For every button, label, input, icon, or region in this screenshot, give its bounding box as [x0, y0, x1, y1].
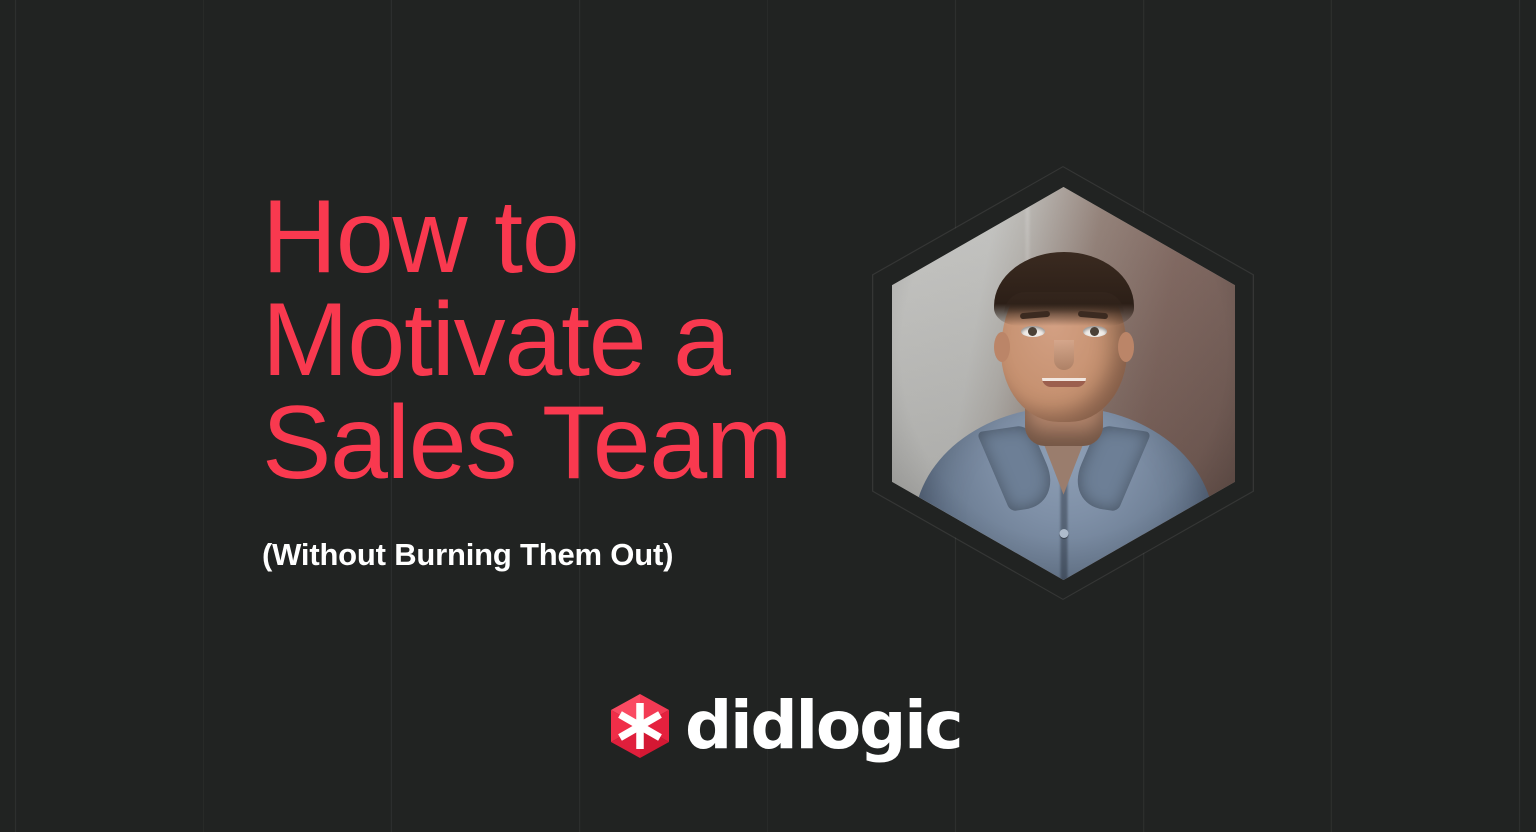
brand-lockup[interactable]: didlogic [611, 694, 961, 758]
copy-block: How to Motivate a Sales Team (Without Bu… [262, 186, 882, 573]
portrait-hexagon [872, 166, 1254, 600]
hexagon-asterisk-icon [611, 694, 669, 758]
page-title: How to Motivate a Sales Team [262, 186, 882, 495]
brand-wordmark: didlogic [685, 694, 961, 758]
poster-canvas: How to Motivate a Sales Team (Without Bu… [0, 0, 1536, 832]
page-subtitle: (Without Burning Them Out) [262, 537, 882, 573]
